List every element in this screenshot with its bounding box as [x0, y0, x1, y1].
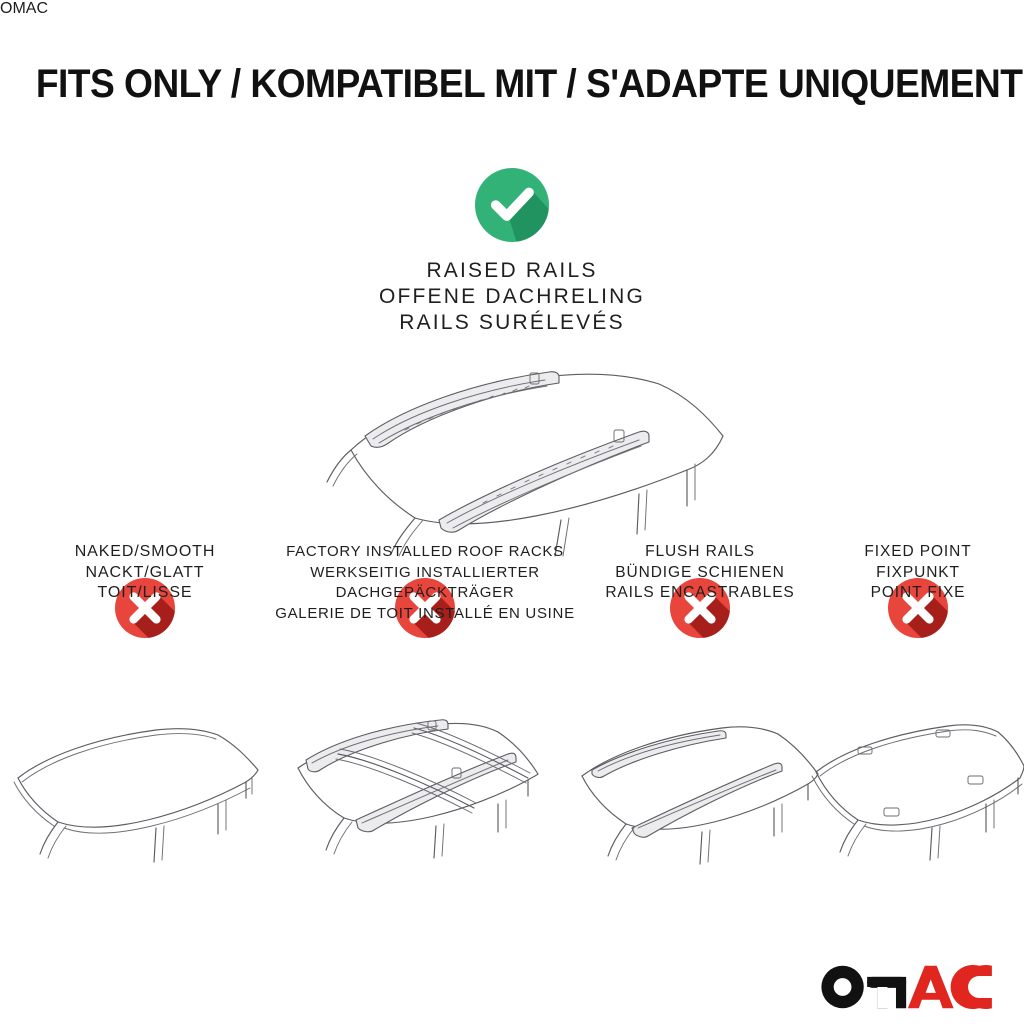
incompatible-column-flush-rails: FLUSH RAILS BÜNDIGE SCHIENEN RAILS ENCAS… — [586, 578, 814, 638]
incompatible-line-2: BÜNDIGE SCHIENEN — [586, 563, 814, 584]
car-roof-raised-rails-illustration — [287, 358, 737, 558]
incompatible-line-1: FACTORY INSTALLED ROOF RACKS — [270, 542, 580, 563]
car-roof-factory-roof-racks-illustration — [276, 716, 576, 906]
incompatible-line-3: RAILS ENCASTRABLES — [586, 583, 814, 604]
incompatible-caption: NAKED/SMOOTH NACKT/GLATT TOIT/LISSE — [12, 542, 278, 638]
compatible-line-1: RAISED RAILS — [0, 258, 1024, 284]
incompatible-line-3: DACHGEPÄCKTRÄGER — [270, 583, 580, 604]
incompatible-line-4: GALERIE DE TOIT INSTALLÉ EN USINE — [270, 604, 580, 625]
incompatible-caption: FIXED POINT FIXPUNKT POINT FIXE — [818, 542, 1018, 638]
logo-text: OMAC — [0, 0, 48, 17]
check-circle-icon — [475, 168, 549, 242]
fitment-compatibility-graphic: FITS ONLY / KOMPATIBEL MIT / S'ADAPTE UN… — [0, 0, 1024, 1024]
compatible-line-3: RAILS SURÉLEVÉS — [0, 310, 1024, 336]
car-roof-flush-rails-illustration — [568, 716, 830, 906]
car-roof-fixed-point-illustration — [806, 716, 1024, 906]
incompatible-line-3: POINT FIXE — [818, 583, 1018, 604]
incompatible-column-naked-smooth: NAKED/SMOOTH NACKT/GLATT TOIT/LISSE — [12, 578, 278, 638]
compatible-caption: RAISED RAILS OFFENE DACHRELING RAILS SUR… — [0, 258, 1024, 336]
incompatible-column-factory-roof-racks: FACTORY INSTALLED ROOF RACKS WERKSEITIG … — [270, 578, 580, 638]
incompatible-line-1: NAKED/SMOOTH — [12, 542, 278, 563]
incompatible-sections: NAKED/SMOOTH NACKT/GLATT TOIT/LISSE FACT… — [0, 578, 1024, 718]
omac-logo — [818, 964, 996, 1010]
page-title: FITS ONLY / KOMPATIBEL MIT / S'ADAPTE UN… — [36, 62, 988, 107]
incompatible-line-3: TOIT/LISSE — [12, 583, 278, 604]
incompatible-caption: FLUSH RAILS BÜNDIGE SCHIENEN RAILS ENCAS… — [586, 542, 814, 638]
incompatible-line-2: WERKSEITIG INSTALLIERTER — [270, 563, 580, 584]
incompatible-illustrations — [0, 716, 1024, 916]
incompatible-caption: FACTORY INSTALLED ROOF RACKS WERKSEITIG … — [270, 542, 580, 638]
incompatible-line-1: FLUSH RAILS — [586, 542, 814, 563]
compatible-section: RAISED RAILS OFFENE DACHRELING RAILS SUR… — [0, 168, 1024, 336]
incompatible-line-2: FIXPUNKT — [818, 563, 1018, 584]
incompatible-line-2: NACKT/GLATT — [12, 563, 278, 584]
compatible-line-2: OFFENE DACHRELING — [0, 284, 1024, 310]
incompatible-line-1: FIXED POINT — [818, 542, 1018, 563]
incompatible-column-fixed-point: FIXED POINT FIXPUNKT POINT FIXE — [818, 578, 1018, 638]
car-roof-naked-smooth-illustration — [6, 716, 274, 906]
